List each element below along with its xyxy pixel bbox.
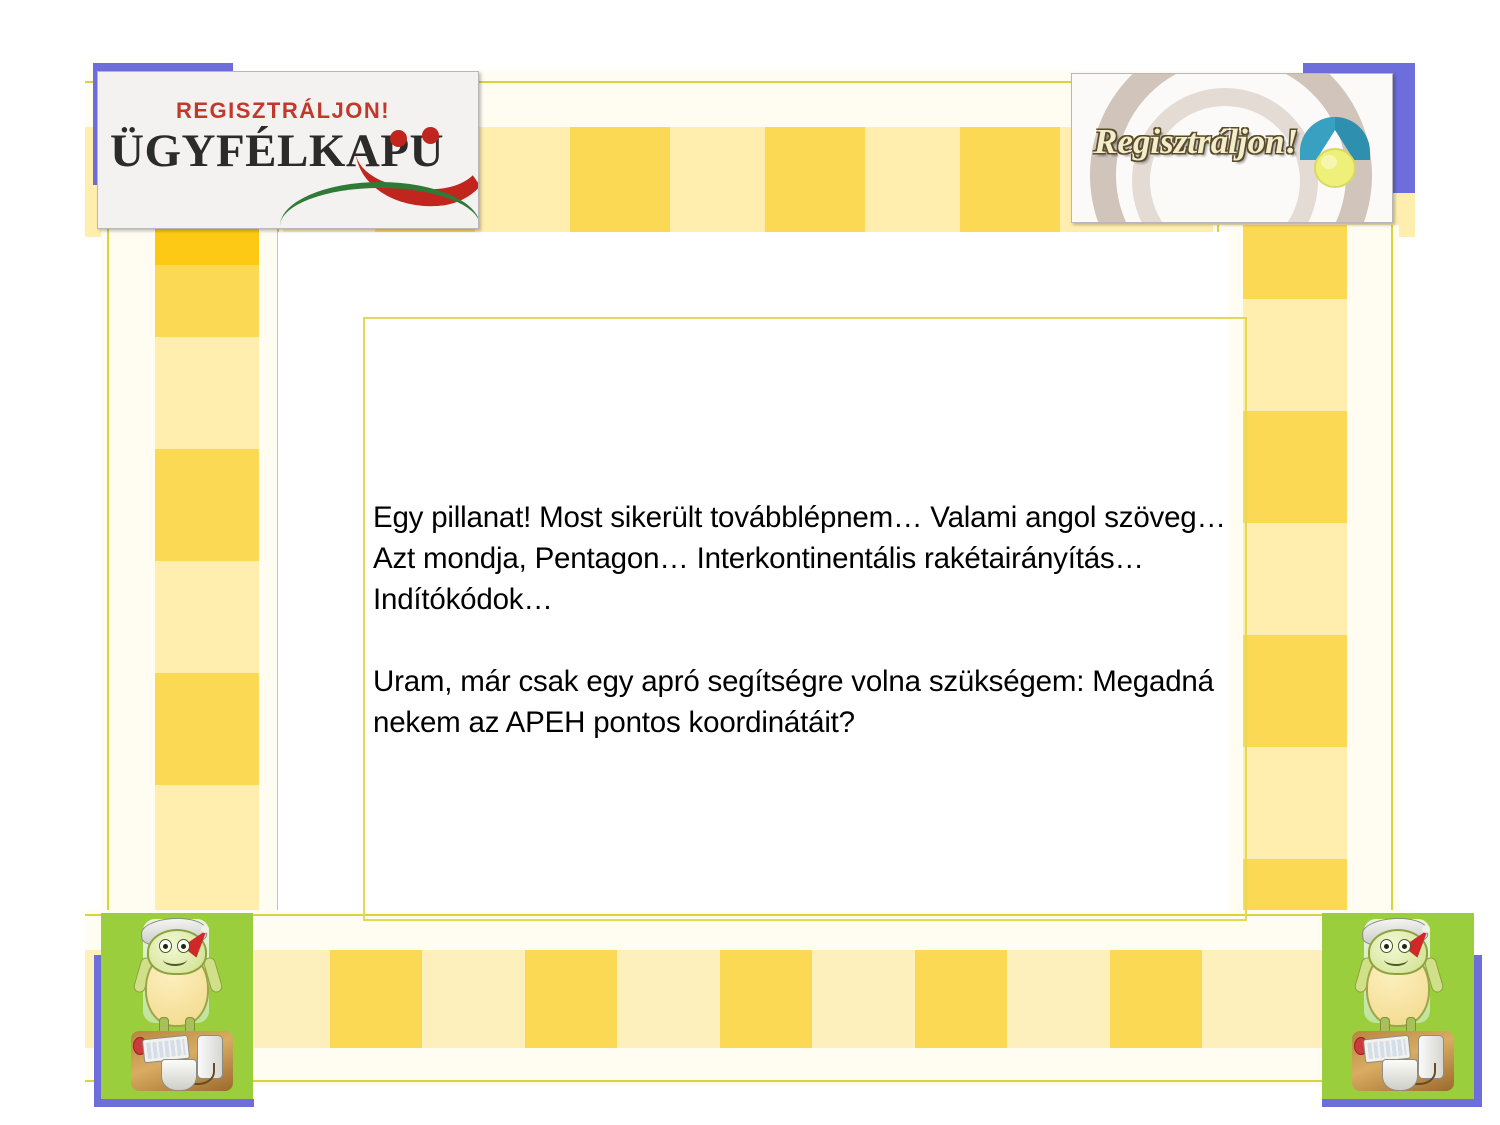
character-badge-right [1322,913,1474,1099]
slide-canvas: Egy pillanat! Most sikerült továbblépnem… [85,55,1415,1057]
logo-ugyfelkapu[interactable]: REGISZTRÁLJON! ÜGYFÉLKAPU [85,55,485,225]
frame-left-rule-outer [107,225,109,915]
frame-block-right-4 [1243,859,1347,915]
logo-regisztraljon[interactable]: Regisztráljon! [1065,55,1415,225]
frame-block-bottom-3 [525,950,617,1048]
frame-band-bottom [85,910,1415,1086]
smiley-eye-left-icon [390,130,407,147]
frame-block-bottom-4 [720,950,812,1048]
frame-left-blocks [155,225,259,915]
frame-block-bottom-6 [1110,950,1202,1048]
logo-right-card: Regisztráljon! [1071,73,1393,223]
character-left-blue-base [94,1099,254,1107]
frame-block-left-0 [155,225,259,265]
slide-body-text: Egy pillanat! Most sikerült továbblépnem… [373,497,1233,743]
frame-bottom-rule-bottom [85,1080,1415,1082]
smiley-eye-right-icon [422,127,439,144]
frame-block-right-3 [1243,635,1347,747]
frame-block-bottom-2 [330,950,422,1048]
character-right-blue-edge [1474,955,1482,1107]
cartoon-character-icon [1322,913,1474,1099]
frame-right-blocks [1243,225,1347,915]
character-right-blue-base [1322,1099,1482,1107]
frame-block-bottom-5 [915,950,1007,1048]
frame-block-top-3 [570,127,670,237]
frame-band-left [101,225,283,915]
logo-right-text: Regisztráljon! [1094,122,1298,162]
blue-dome-mark-icon [1292,90,1378,194]
cartoon-character-icon [101,913,253,1099]
frame-block-top-5 [960,127,1060,237]
frame-block-right-2 [1243,411,1347,523]
frame-block-top-4 [765,127,865,237]
frame-block-left-3 [155,673,259,785]
frame-bottom-blocks [85,950,1415,1048]
logo-left-card: REGISZTRÁLJON! ÜGYFÉLKAPU [97,71,479,229]
frame-right-rule-outer [1391,225,1393,915]
frame-block-left-1 [155,265,259,337]
character-badge-left [101,913,253,1099]
frame-block-right-1 [1243,225,1347,299]
frame-block-left-2 [155,449,259,561]
